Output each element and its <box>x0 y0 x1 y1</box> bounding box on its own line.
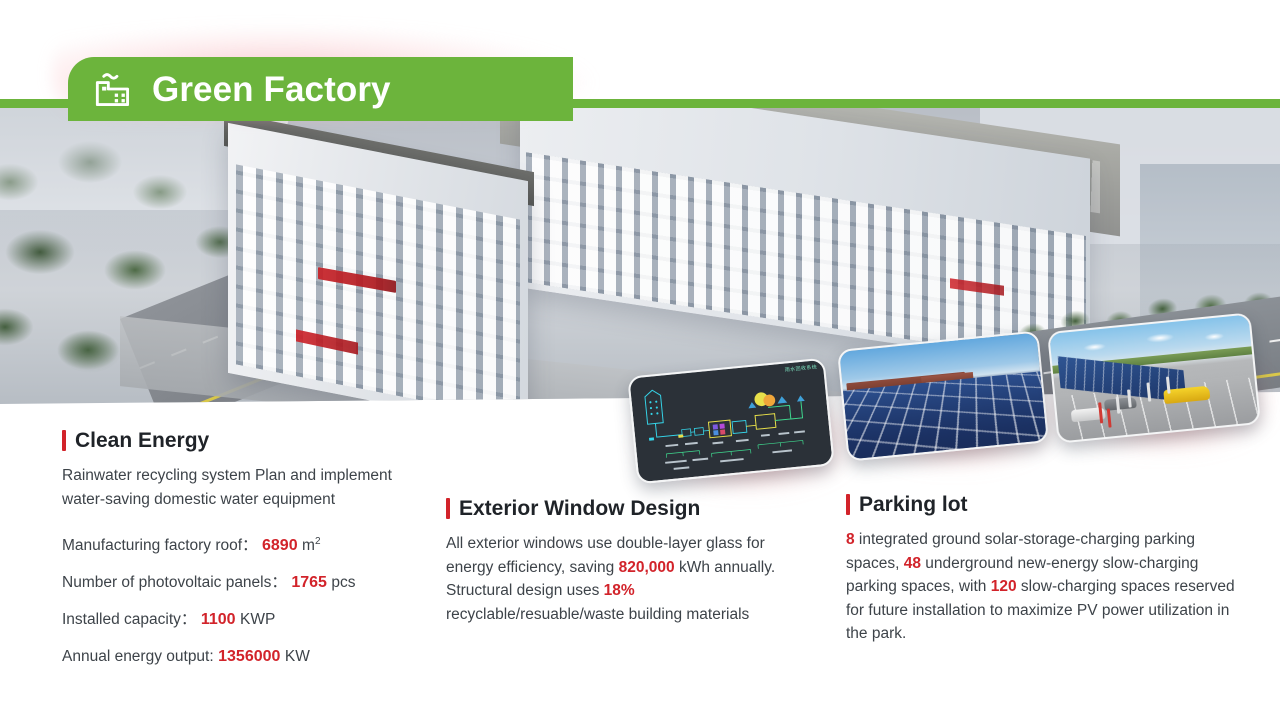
stat-label: Annual energy output: <box>62 648 214 665</box>
title-badge: Green Factory <box>68 57 573 121</box>
parking-lot-body: 8 integrated ground solar-storage-chargi… <box>846 528 1244 646</box>
heading-accent-bar <box>446 498 450 519</box>
heading-text: Exterior Window Design <box>459 498 700 519</box>
carport-photo <box>1049 314 1259 441</box>
stat-row: Annual energy output: 1356000 KW <box>62 649 392 665</box>
exterior-window-body: All exterior windows use double-layer gl… <box>446 532 816 626</box>
highlight-value: 18% <box>604 582 635 599</box>
factory-icon <box>90 67 134 111</box>
schematic-background: 雨水回收系统 <box>629 360 832 482</box>
solar-photo <box>839 333 1047 460</box>
stat-value: 1765 <box>287 574 331 591</box>
body-text-run: recyclable/resuable/waste building mater… <box>446 606 749 623</box>
stat-value: 6890 <box>258 537 302 554</box>
schematic-drawing <box>629 360 832 484</box>
stat-unit: KWP <box>240 611 275 628</box>
section-exterior-window: Exterior Window Design All exterior wind… <box>446 498 816 626</box>
clean-energy-stats: Manufacturing factory roof： 6890 m2Numbe… <box>62 537 392 665</box>
heading-parking-lot: Parking lot <box>846 494 1244 515</box>
highlight-value: 120 <box>991 578 1017 595</box>
clean-energy-body: Rainwater recycling system Plan and impl… <box>62 464 392 511</box>
stat-row: Manufacturing factory roof： 6890 m2 <box>62 537 392 554</box>
slide-root: Green Factory 雨水回收系统 <box>0 0 1280 720</box>
stat-label: Number of photovoltaic panels： <box>62 574 287 591</box>
heading-accent-bar <box>846 494 850 515</box>
stat-unit: KW <box>285 648 310 665</box>
stat-row: Installed capacity： 1100 KWP <box>62 612 392 628</box>
stat-row: Number of photovoltaic panels： 1765 pcs <box>62 575 392 591</box>
solar-roof-card[interactable] <box>837 330 1049 461</box>
rainwater-schematic-card[interactable]: 雨水回收系统 <box>627 358 835 485</box>
stat-unit: pcs <box>331 574 355 591</box>
ev-carport-card[interactable] <box>1047 312 1261 443</box>
heading-exterior-window: Exterior Window Design <box>446 498 816 519</box>
highlight-value: 8 <box>846 531 855 548</box>
heading-accent-bar <box>62 430 66 451</box>
stat-value: 1100 <box>196 611 240 628</box>
highlight-value: 48 <box>904 555 921 572</box>
stat-value: 1356000 <box>214 648 285 665</box>
heading-text: Clean Energy <box>75 430 209 451</box>
stat-label: Manufacturing factory roof： <box>62 537 258 554</box>
page-title: Green Factory <box>152 72 391 107</box>
stat-label: Installed capacity： <box>62 611 196 628</box>
section-parking-lot: Parking lot 8 integrated ground solar-st… <box>846 494 1244 646</box>
heading-clean-energy: Clean Energy <box>62 430 392 451</box>
stat-unit: m2 <box>302 537 320 554</box>
section-clean-energy: Clean Energy Rainwater recycling system … <box>62 430 392 686</box>
highlight-value: 820,000 <box>619 559 675 576</box>
heading-text: Parking lot <box>859 494 968 515</box>
